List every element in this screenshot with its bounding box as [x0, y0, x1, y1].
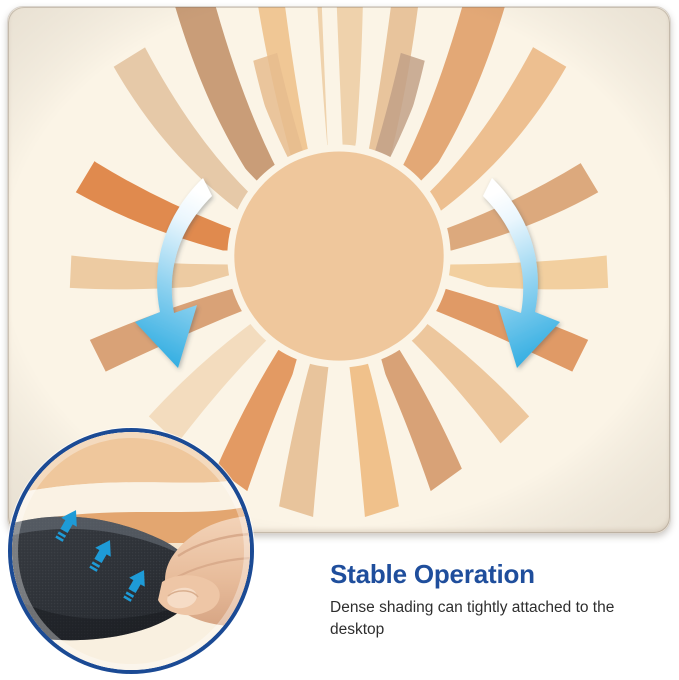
feature-copy-block: Stable Operation Dense shading can tight…: [330, 560, 660, 641]
rubber-base-closeup-inset: [12, 432, 250, 670]
feature-headline: Stable Operation: [330, 560, 660, 590]
inset-photo: [12, 432, 250, 670]
feature-subline: Dense shading can tightly attached to th…: [330, 597, 660, 641]
product-feature-image: Stable Operation Dense shading can tight…: [0, 0, 679, 680]
